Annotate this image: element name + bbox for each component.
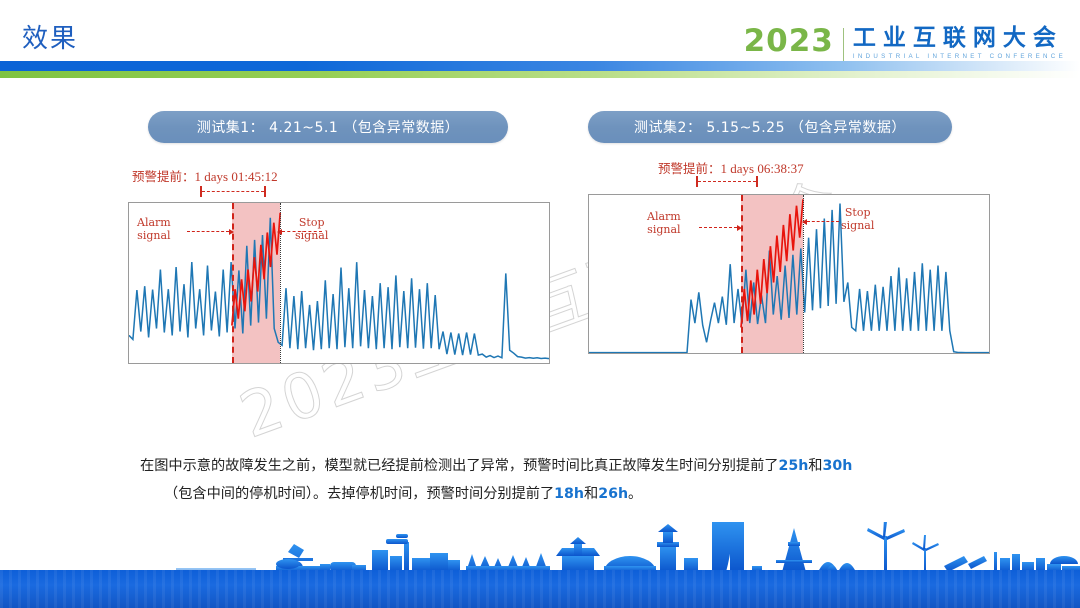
- lead-span-bracket-2: [696, 176, 758, 187]
- body-line2: （包含中间的停机时间）。去掉停机时间，预警时间分别提前了18h和26h。: [140, 480, 940, 508]
- lead-time-label-1: 预警提前：1 days 01:45:12: [132, 166, 278, 185]
- stop-signal-label-1: Stop signal: [295, 217, 328, 242]
- lead-span-bracket-1: [200, 186, 266, 197]
- alarm-label-line2-1: signal: [137, 229, 170, 242]
- alarm-label-line1-1: Alarm: [137, 216, 171, 229]
- lead-value-2: 1 days 06:38:37: [721, 161, 804, 176]
- body-highlight-30h: 30h: [823, 458, 853, 474]
- skyline-icon: [0, 522, 1080, 572]
- series-svg-1: [129, 203, 549, 363]
- slide-root: 效果 2023 中国·苏州 8月14日-16日 工业互联网大会 INDUSTRI…: [0, 0, 1080, 608]
- logo-title-en: INDUSTRIAL INTERNET CONFERENCE: [853, 53, 1066, 60]
- stop-signal-label-2: Stop signal: [841, 207, 874, 232]
- body-line1-mid: 和: [808, 458, 822, 474]
- stop-line-1: [280, 203, 281, 363]
- stop-label-line2-2: signal: [841, 219, 874, 232]
- chart-panel-1: 预警提前：1 days 01:45:12 Alarm signal Stop s…: [100, 160, 560, 420]
- dataset-banner-1: 测试集1： 4.21~5.1 （包含异常数据）: [148, 111, 508, 143]
- alarm-label-line2-2: signal: [647, 223, 680, 236]
- body-line2-end: 。: [628, 486, 642, 502]
- stop-label-line1-1: Stop: [299, 216, 325, 229]
- lead-value-1: 1 days 01:45:12: [195, 169, 278, 184]
- body-line2-part1: （包含中间的停机时间）。去掉停机时间，预警时间分别提前了: [164, 486, 554, 502]
- chart-panel-2: 预警提前：1 days 06:38:37 Alarm signal Stop s…: [548, 152, 998, 412]
- lead-prefix-1: 预警提前：: [132, 169, 195, 184]
- water-band: [0, 570, 1080, 608]
- normal-series-path: [129, 218, 549, 359]
- alarm-arrow-1: [187, 231, 229, 232]
- header-bar-green: [0, 71, 1080, 78]
- header-bar-blue: [0, 61, 1080, 71]
- body-highlight-25h: 25h: [778, 458, 808, 474]
- body-line2-mid: 和: [584, 486, 598, 502]
- alarm-line-2: [741, 195, 743, 353]
- lead-prefix-2: 预警提前：: [658, 161, 721, 176]
- body-highlight-26h: 26h: [598, 486, 628, 502]
- alarm-line-1: [232, 203, 234, 363]
- body-paragraph: 在图中示意的故障发生之前，模型就已经提前检测出了异常，预警时间比真正故障发生时间…: [140, 452, 940, 509]
- alarm-signal-label-2: Alarm signal: [647, 211, 681, 236]
- plot-area-1: Alarm signal Stop signal 050010001500200…: [128, 202, 550, 364]
- stop-arrow-1: [282, 231, 322, 232]
- footer-decoration: [0, 528, 1080, 608]
- logo-year-text: 2023: [744, 26, 834, 57]
- stop-label-line1-2: Stop: [845, 206, 871, 219]
- page-title: 效果: [22, 18, 78, 55]
- body-highlight-18h: 18h: [554, 486, 584, 502]
- logo-title-cn: 工业互联网大会: [853, 26, 1066, 50]
- stop-arrow-2: [807, 221, 839, 222]
- plot-area-2: Alarm signal Stop signal 050010001500200…: [588, 194, 990, 354]
- alarm-signal-label-1: Alarm signal: [137, 217, 171, 242]
- dataset-banner-2: 测试集2： 5.15~5.25 （包含异常数据）: [588, 111, 952, 143]
- lead-time-label-2: 预警提前：1 days 06:38:37: [658, 158, 804, 177]
- alarm-label-line1-2: Alarm: [647, 210, 681, 223]
- body-line1-part1: 在图中示意的故障发生之前，模型就已经提前检测出了异常，预警时间比真正故障发生时间…: [140, 458, 778, 474]
- alarm-arrow-2: [699, 227, 737, 228]
